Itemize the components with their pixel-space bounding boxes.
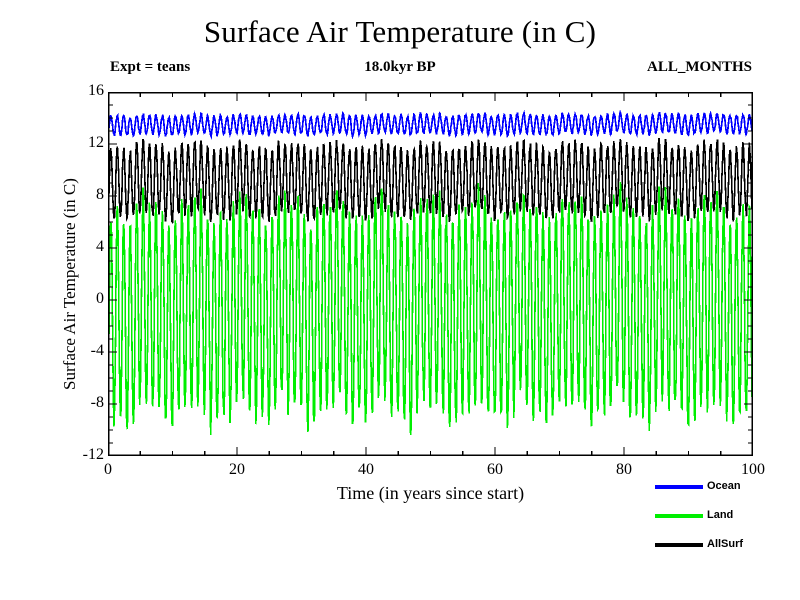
y-axis-tick-labels: 1612840-4-8-12 bbox=[60, 0, 104, 600]
legend-swatch-land bbox=[655, 514, 703, 518]
legend-label: Ocean bbox=[707, 478, 741, 495]
x-tick-label: 100 bbox=[723, 461, 783, 479]
chart-legend: OceanLandAllSurf bbox=[655, 478, 795, 568]
y-tick-label: -4 bbox=[64, 342, 104, 360]
temperature-time-series-plot bbox=[108, 92, 753, 456]
page-title: Surface Air Temperature (in C) bbox=[0, 14, 800, 50]
y-tick-label: 16 bbox=[64, 82, 104, 100]
series-line-ocean bbox=[108, 112, 753, 136]
legend-label: AllSurf bbox=[707, 536, 743, 553]
x-tick-label: 20 bbox=[207, 461, 267, 479]
y-tick-label: 0 bbox=[64, 290, 104, 308]
x-tick-label: 0 bbox=[78, 461, 138, 479]
series-line-land bbox=[108, 182, 753, 435]
y-tick-label: -8 bbox=[64, 394, 104, 412]
legend-swatch-ocean bbox=[655, 485, 703, 489]
y-tick-label: 8 bbox=[64, 186, 104, 204]
legend-label: Land bbox=[707, 507, 733, 524]
x-tick-label: 40 bbox=[336, 461, 396, 479]
months-label: ALL_MONTHS bbox=[647, 59, 752, 76]
plot-area bbox=[108, 92, 753, 456]
y-tick-label: 4 bbox=[64, 238, 104, 256]
chart-page: Surface Air Temperature (in C) Expt = te… bbox=[0, 0, 800, 600]
y-tick-label: 12 bbox=[64, 134, 104, 152]
series-line-allsurf bbox=[108, 138, 753, 222]
x-tick-label: 60 bbox=[465, 461, 525, 479]
legend-swatch-allsurf bbox=[655, 543, 703, 547]
x-tick-label: 80 bbox=[594, 461, 654, 479]
